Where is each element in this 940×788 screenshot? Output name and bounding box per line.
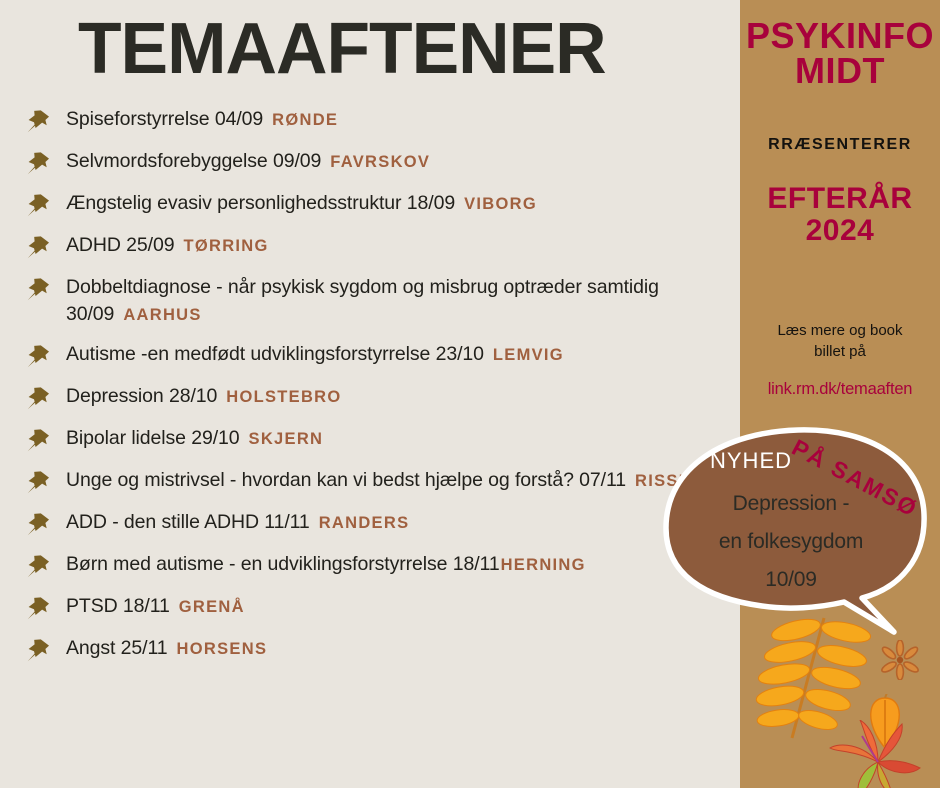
season-year: 2024 [740, 215, 940, 247]
event-row: Spiseforstyrrelse 04/09RØNDE [24, 106, 744, 136]
season-label: EFTERÅR 2024 [740, 183, 940, 246]
event-row: Angst 25/11HORSENS [24, 635, 744, 665]
event-row: Dobbeltdiagnose - når psykisk sygdom og … [24, 274, 744, 329]
pushpin-icon [26, 150, 52, 176]
page-title: TEMAAFTENER [78, 8, 606, 90]
event-city: HOLSTEBRO [226, 388, 341, 406]
event-city: HORSENS [177, 640, 268, 658]
booking-line-1: Læs mere og book [777, 322, 902, 339]
event-row: PTSD 18/11GRENÅ [24, 593, 744, 623]
pushpin-icon [26, 511, 52, 537]
bubble-line-1: Depression - [666, 492, 916, 516]
bubble-line-2: en folkesygdom [666, 530, 916, 554]
event-row: Selvmordsforebyggelse 09/09FAVRSKOV [24, 148, 744, 178]
event-title: Spiseforstyrrelse 04/09 [66, 108, 263, 130]
event-title: Ængstelig evasiv personlighedsstruktur 1… [66, 192, 455, 214]
booking-line-2: billet på [814, 343, 866, 360]
event-row: Depression 28/10HOLSTEBRO [24, 383, 744, 413]
event-list: Spiseforstyrrelse 04/09RØNDESelvmordsfor… [24, 106, 744, 677]
event-title: Autisme -en medfødt udviklingsforstyrrel… [66, 343, 484, 365]
booking-link[interactable]: link.rm.dk/temaaften [740, 380, 940, 399]
event-city: FAVRSKOV [330, 153, 430, 171]
pushpin-icon [26, 192, 52, 218]
event-row: Børn med autisme - en udviklingsforstyrr… [24, 551, 744, 581]
booking-info: Læs mere og book billet på [746, 320, 934, 363]
pushpin-icon [26, 108, 52, 134]
event-title: Angst 25/11 [66, 637, 168, 659]
event-city: SKJERN [249, 430, 324, 448]
event-city: HERNING [501, 556, 586, 574]
event-row: Bipolar lidelse 29/10SKJERN [24, 425, 744, 455]
pushpin-icon [26, 385, 52, 411]
brand-name: PSYKINFO MIDT [740, 18, 940, 89]
pushpin-icon [26, 469, 52, 495]
pushpin-icon [26, 427, 52, 453]
event-city: TØRRING [183, 237, 268, 255]
sidebar: PSYKINFO MIDT RRÆSENTERER EFTERÅR 2024 L… [740, 0, 940, 788]
pushpin-icon [26, 595, 52, 621]
event-row: Autisme -en medfødt udviklingsforstyrrel… [24, 341, 744, 371]
event-row: ADHD 25/09TØRRING [24, 232, 744, 262]
news-speech-bubble: NYHED PÅ SAMSØ Depression - en folkesygd… [648, 418, 940, 648]
event-city: AARHUS [123, 306, 201, 324]
poster-canvas: TEMAAFTENER Spiseforstyrrelse 04/09RØNDE… [0, 0, 940, 788]
event-title: PTSD 18/11 [66, 595, 170, 617]
bubble-line-3: 10/09 [666, 568, 916, 592]
event-title: Unge og mistrivsel - hvordan kan vi beds… [66, 469, 626, 491]
event-city: LEMVIG [493, 346, 564, 364]
brand-line-2: MIDT [740, 53, 940, 88]
season-text: EFTERÅR [767, 182, 912, 215]
event-city: GRENÅ [179, 598, 245, 616]
event-row: Unge og mistrivsel - hvordan kan vi beds… [24, 467, 744, 497]
event-title: Bipolar lidelse 29/10 [66, 427, 240, 449]
pushpin-icon [26, 276, 52, 302]
pushpin-icon [26, 637, 52, 663]
event-title: Selvmordsforebyggelse 09/09 [66, 150, 321, 172]
event-title: Depression 28/10 [66, 385, 217, 407]
event-city: VIBORG [464, 195, 537, 213]
event-city: RØNDE [272, 111, 338, 129]
event-title: ADD - den stille ADHD 11/11 [66, 511, 310, 533]
news-badge: NYHED [710, 448, 792, 474]
pushpin-icon [26, 343, 52, 369]
pushpin-icon [26, 234, 52, 260]
pushpin-icon [26, 553, 52, 579]
event-row: Ængstelig evasiv personlighedsstruktur 1… [24, 190, 744, 220]
presents-label: RRÆSENTERER [740, 136, 940, 154]
event-city: RANDERS [319, 514, 410, 532]
event-row: ADD - den stille ADHD 11/11RANDERS [24, 509, 744, 539]
event-title: Børn med autisme - en udviklingsforstyrr… [66, 553, 500, 575]
event-title: ADHD 25/09 [66, 234, 174, 256]
